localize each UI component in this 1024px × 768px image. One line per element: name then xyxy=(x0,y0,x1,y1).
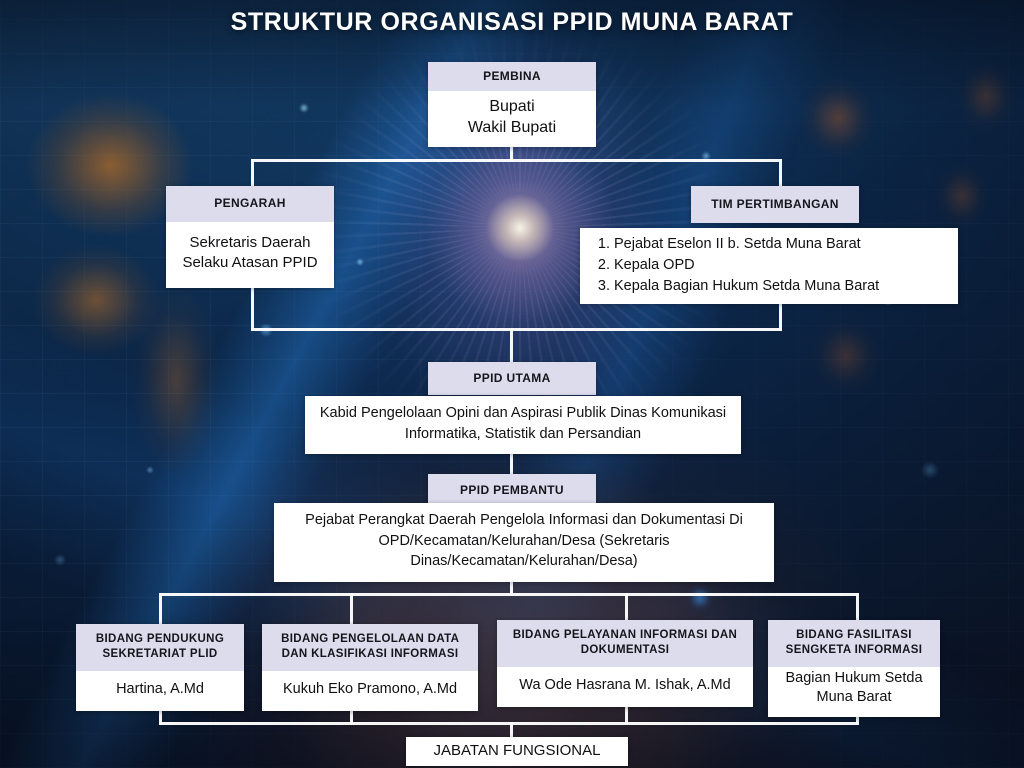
connector-bus-bottom xyxy=(159,722,859,725)
connector-bus-top-right-drop xyxy=(779,159,782,189)
node-bidang-1-header-line-1: BIDANG PENDUKUNG xyxy=(96,633,224,645)
node-bidang-2-body-line-1: Kukuh Eko Pramono, A.Md xyxy=(268,680,472,699)
connector-bus-top-left-drop xyxy=(251,159,254,189)
node-pengarah-header: PENGARAH xyxy=(166,186,334,222)
connector-pengarah-down xyxy=(251,285,254,331)
node-bidang-2-header: BIDANG PENGELOLAAN DATA DAN KLASIFIKASI … xyxy=(262,624,478,671)
list-item: Kepala Bagian Hukum Setda Muna Barat xyxy=(614,276,948,297)
node-ppid-pembantu-line-1: Pejabat Perangkat Daerah Pengelola Infor… xyxy=(305,512,743,528)
organizational-chart-canvas: STRUKTUR ORGANISASI PPID MUNA BARAT PEMB… xyxy=(0,0,1024,768)
page-title: STRUKTUR ORGANISASI PPID MUNA BARAT xyxy=(0,8,1024,37)
node-bidang-4-header-line-1: BIDANG FASILITASI xyxy=(796,629,912,641)
node-pembina[interactable]: PEMBINA Bupati Wakil Bupati xyxy=(428,62,596,147)
node-bidang-2-body: Kukuh Eko Pramono, A.Md xyxy=(262,671,478,711)
list-item: Pejabat Eselon II b. Setda Muna Barat xyxy=(614,234,948,255)
connector-bus-top xyxy=(251,159,782,162)
node-bidang-1-body-line-1: Hartina, A.Md xyxy=(82,680,238,699)
node-bidang-4-header-line-2: SENGKETA INFORMASI xyxy=(786,644,923,656)
node-bidang-1-body: Hartina, A.Md xyxy=(76,671,244,711)
node-pembina-line-2: Wakil Bupati xyxy=(434,118,590,139)
connector-bus-second xyxy=(251,328,782,331)
node-bidang-4-body-line-1: Bagian Hukum Setda xyxy=(774,669,934,688)
node-pengarah-line-2: Selaku Atasan PPID xyxy=(172,253,328,273)
node-bidang-4-body-line-2: Muna Barat xyxy=(774,688,934,707)
node-pengarah-line-1: Sekretaris Daerah xyxy=(172,233,328,253)
node-bidang-3-body-line-1: Wa Ode Hasrana M. Ishak, A.Md xyxy=(503,676,747,695)
connector-bus-bidang xyxy=(159,593,859,596)
node-bidang-4-header: BIDANG FASILITASI SENGKETA INFORMASI xyxy=(768,620,940,667)
node-ppid-pembantu-line-3: Dinas/Kecamatan/Kelurahan/Desa) xyxy=(410,553,637,569)
connector-drop-bidang-1 xyxy=(159,593,162,626)
node-bidang-pengelolaan-data[interactable]: BIDANG PENGELOLAAN DATA DAN KLASIFIKASI … xyxy=(262,624,478,711)
node-ppid-pembantu-line-2: OPD/Kecamatan/Kelurahan/Desa (Sekretaris xyxy=(379,533,670,549)
node-pembina-header: PEMBINA xyxy=(428,62,596,91)
node-tim-pertimbangan-list[interactable]: Pejabat Eselon II b. Setda Muna Barat Ke… xyxy=(580,228,958,304)
node-ppid-utama-body[interactable]: Kabid Pengelolaan Opini dan Aspirasi Pub… xyxy=(305,396,741,454)
node-bidang-3-header: BIDANG PELAYANAN INFORMASI DAN DOKUMENTA… xyxy=(497,620,753,667)
node-pengarah-body: Sekretaris Daerah Selaku Atasan PPID xyxy=(166,222,334,288)
connector-ppid-utama-up xyxy=(510,328,513,364)
node-ppid-utama-line-1: Kabid Pengelolaan Opini dan Aspirasi Pub… xyxy=(320,405,606,421)
node-ppid-pembantu-body[interactable]: Pejabat Perangkat Daerah Pengelola Infor… xyxy=(274,503,774,582)
connector-drop-bidang-2 xyxy=(350,593,353,626)
node-pembina-line-1: Bupati xyxy=(434,97,590,118)
node-bidang-4-body: Bagian Hukum Setda Muna Barat xyxy=(768,667,940,717)
node-bidang-fasilitasi-sengketa[interactable]: BIDANG FASILITASI SENGKETA INFORMASI Bag… xyxy=(768,620,940,717)
node-pengarah[interactable]: PENGARAH Sekretaris Daerah Selaku Atasan… xyxy=(166,186,334,288)
node-bidang-pendukung-sekretariat-plid[interactable]: BIDANG PENDUKUNG SEKRETARIAT PLID Hartin… xyxy=(76,624,244,711)
node-ppid-utama-header: PPID UTAMA xyxy=(428,362,596,395)
node-bidang-1-header-line-2: SEKRETARIAT PLID xyxy=(102,648,217,660)
node-tim-pertimbangan-header: TIM PERTIMBANGAN xyxy=(691,186,859,223)
connector-drop-bidang-3 xyxy=(625,593,628,622)
node-bidang-3-body: Wa Ode Hasrana M. Ishak, A.Md xyxy=(497,667,753,707)
list-item: Kepala OPD xyxy=(614,255,948,276)
node-bidang-pelayanan-informasi[interactable]: BIDANG PELAYANAN INFORMASI DAN DOKUMENTA… xyxy=(497,620,753,707)
connector-drop-bidang-4 xyxy=(856,593,859,622)
node-bidang-2-header-line-1: BIDANG PENGELOLAAN DATA xyxy=(281,633,459,645)
node-bidang-1-header: BIDANG PENDUKUNG SEKRETARIAT PLID xyxy=(76,624,244,671)
node-bidang-3-header-line-1: BIDANG PELAYANAN INFORMASI xyxy=(513,629,708,641)
node-pembina-body: Bupati Wakil Bupati xyxy=(428,91,596,147)
node-bidang-2-header-line-2: DAN KLASIFIKASI INFORMASI xyxy=(282,648,459,660)
node-jabatan-fungsional[interactable]: JABATAN FUNGSIONAL xyxy=(406,737,628,766)
